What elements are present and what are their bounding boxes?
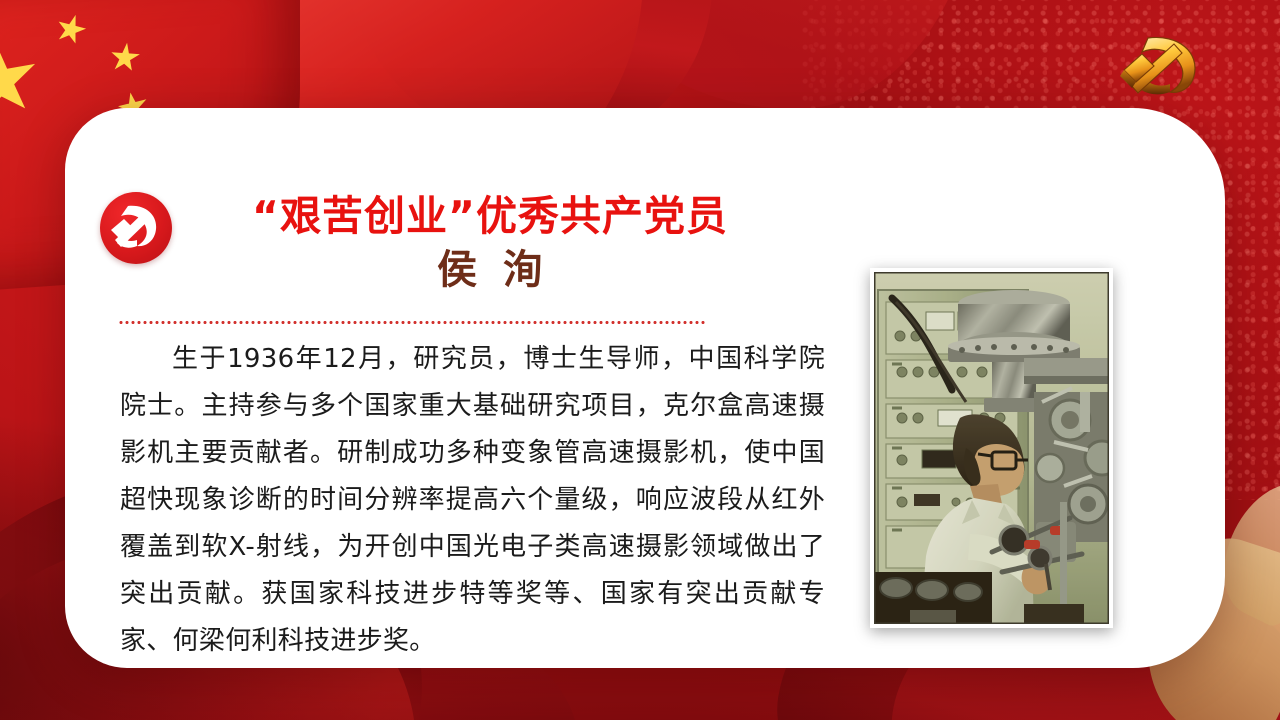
page-title: “艰苦创业”优秀共产党员 — [195, 192, 785, 240]
slide-root: “艰苦创业”优秀共产党员 侯洵 生于1936年12月，研究员，博士生导师，中国科… — [0, 0, 1280, 720]
portrait-photo — [874, 272, 1109, 624]
biography-paragraph: 生于1936年12月，研究员，博士生导师，中国科学院院士。主持参与多个国家重大基… — [120, 336, 825, 665]
photo-frame — [870, 268, 1113, 628]
gold-hammer-sickle-icon — [1108, 26, 1216, 102]
biography-text: 生于1936年12月，研究员，博士生导师，中国科学院院士。主持参与多个国家重大基… — [120, 336, 825, 665]
person-name: 侯洵 — [195, 246, 785, 294]
content-card: “艰苦创业”优秀共产党员 侯洵 生于1936年12月，研究员，博士生导师，中国科… — [65, 108, 1225, 668]
party-emblem-badge-icon — [100, 192, 172, 264]
title-block: “艰苦创业”优秀共产党员 侯洵 — [195, 192, 785, 294]
dotted-divider — [118, 321, 705, 324]
